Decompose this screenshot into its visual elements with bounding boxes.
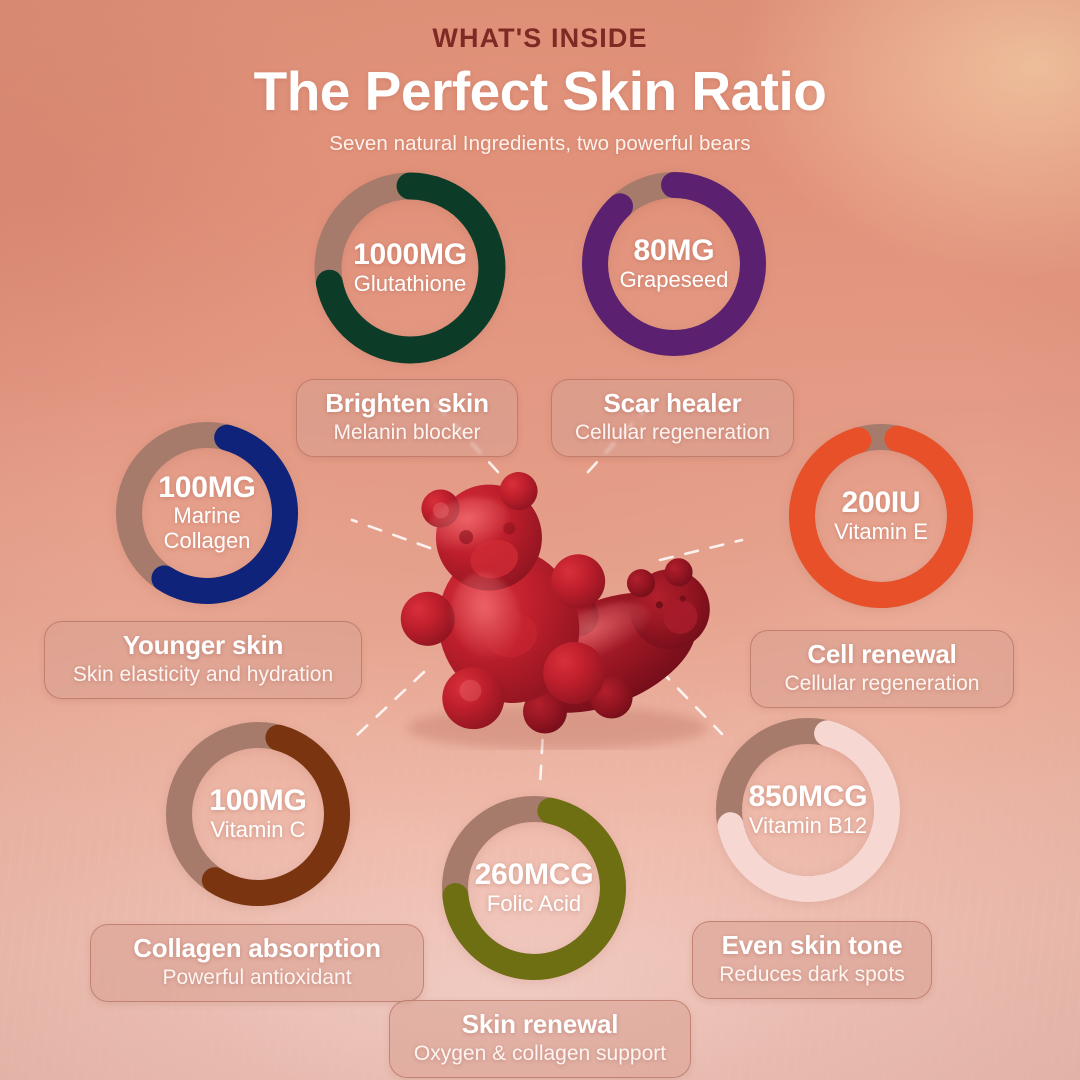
benefit-subtitle: Skin elasticity and hydration [63, 662, 343, 687]
benefit-card-grapeseed[interactable]: Scar healer Cellular regeneration [551, 379, 794, 457]
donut-grapeseed: 80MG Grapeseed [578, 168, 770, 360]
benefit-card-vitamin-b12[interactable]: Even skin tone Reduces dark spots [692, 921, 932, 999]
page-subtitle: Seven natural Ingredients, two powerful … [0, 132, 1080, 156]
benefit-card-folic-acid[interactable]: Skin renewal Oxygen & collagen support [389, 1000, 691, 1078]
benefit-title: Cell renewal [769, 640, 995, 670]
benefit-card-glutathione[interactable]: Brighten skin Melanin blocker [296, 379, 518, 457]
benefit-subtitle: Oxygen & collagen support [408, 1041, 672, 1066]
donut-glutathione: 1000MG Glutathione [310, 168, 510, 368]
benefit-title: Even skin tone [711, 931, 913, 961]
benefit-card-vitamin-c[interactable]: Collagen absorption Powerful antioxidant [90, 924, 424, 1002]
gummy-bears-image [352, 440, 732, 750]
benefit-subtitle: Reduces dark spots [711, 962, 913, 987]
header: WHAT'S INSIDE The Perfect Skin Ratio Sev… [0, 0, 1080, 156]
page-title: The Perfect Skin Ratio [0, 61, 1080, 123]
eyebrow-text: WHAT'S INSIDE [0, 23, 1080, 54]
benefit-title: Scar healer [570, 389, 775, 419]
benefit-subtitle: Melanin blocker [315, 420, 499, 445]
benefit-subtitle: Powerful antioxidant [109, 965, 405, 990]
benefit-card-vitamin-e[interactable]: Cell renewal Cellular regeneration [750, 630, 1014, 708]
benefit-subtitle: Cellular regeneration [570, 420, 775, 445]
benefit-title: Younger skin [63, 631, 343, 661]
benefit-subtitle: Cellular regeneration [769, 671, 995, 696]
benefit-title: Brighten skin [315, 389, 499, 419]
donut-marine-collagen: 100MG MarineCollagen [112, 418, 302, 608]
donut-vitamin-e: 200IU Vitamin E [785, 420, 977, 612]
donut-vitamin-c: 100MG Vitamin C [162, 718, 354, 910]
donut-vitamin-b12: 850MCG Vitamin B12 [712, 714, 904, 906]
donut-folic-acid: 260MCG Folic Acid [438, 792, 630, 984]
benefit-card-marine-collagen[interactable]: Younger skin Skin elasticity and hydrati… [44, 621, 362, 699]
benefit-title: Skin renewal [408, 1010, 672, 1040]
benefit-title: Collagen absorption [109, 934, 405, 964]
